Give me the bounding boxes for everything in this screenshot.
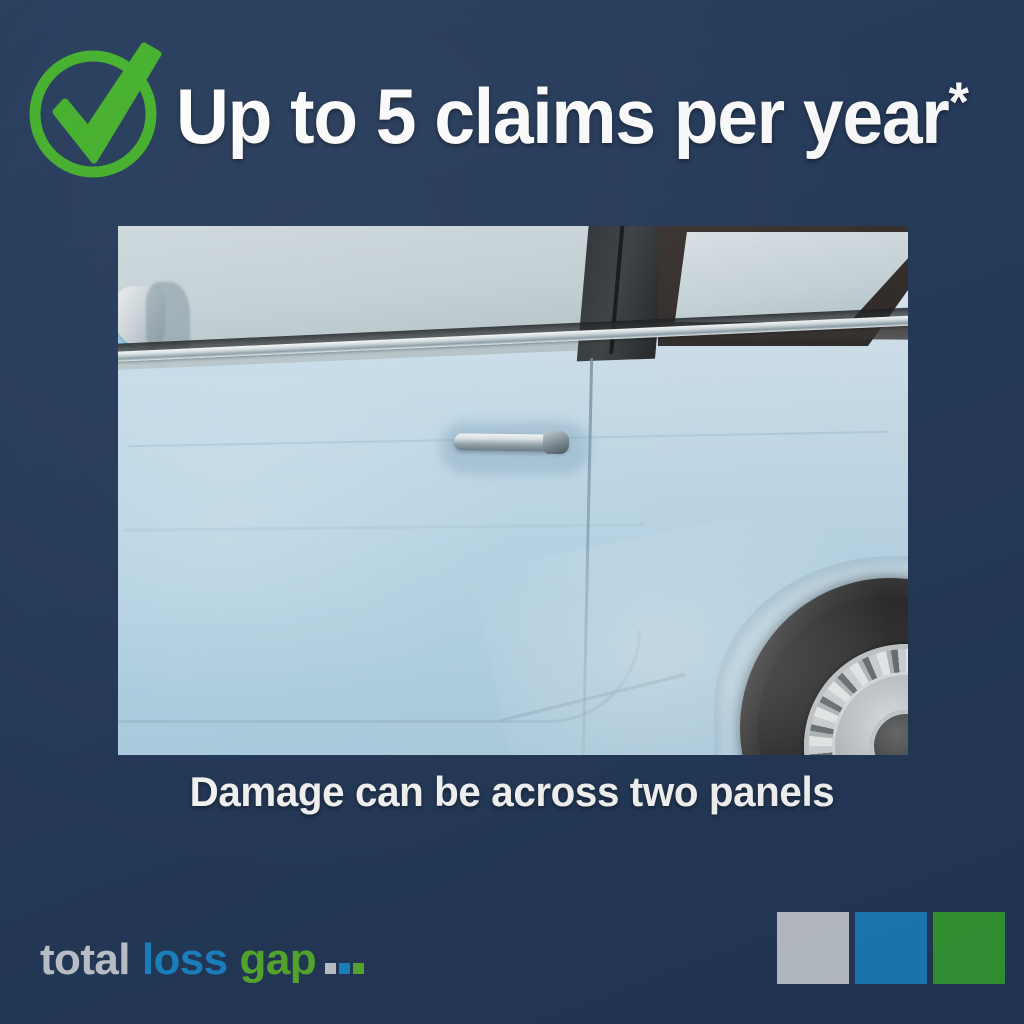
car-damage-photo: [118, 226, 908, 755]
logo-dot-grey: [325, 963, 336, 974]
logo-dots: [325, 963, 364, 974]
headline-row: Up to 5 claims per year*: [18, 22, 1008, 192]
grey-swatch: [777, 912, 849, 984]
headline-label: Up to 5 claims per year: [176, 72, 949, 160]
green-tick-circle-icon: [18, 26, 180, 188]
promo-slide: Up to 5 claims per year*: [0, 0, 1024, 1024]
footnote-asterisk: *: [949, 70, 969, 133]
brand-swatch-bar: [777, 912, 1005, 984]
page-title: Up to 5 claims per year*: [176, 74, 969, 155]
logo-word-loss: loss: [142, 938, 228, 982]
car-photo-canvas: [118, 226, 908, 755]
logo-word-total: total: [40, 938, 130, 982]
brand-logo: total loss gap: [40, 938, 364, 982]
logo-word-gap: gap: [240, 938, 316, 982]
door-handle-cap: [543, 431, 569, 454]
logo-dot-blue: [339, 963, 350, 974]
logo-dot-green: [353, 963, 364, 974]
green-swatch: [933, 912, 1005, 984]
blue-swatch: [855, 912, 927, 984]
photo-caption: Damage can be across two panels: [20, 768, 1003, 816]
